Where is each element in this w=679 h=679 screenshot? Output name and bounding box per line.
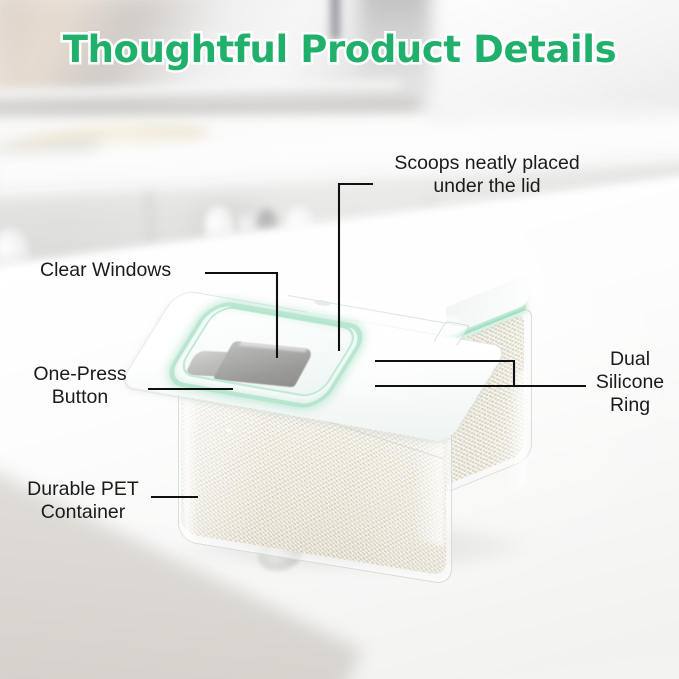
callout-label-dual-silicone: Dual Silicone Ring (586, 348, 674, 416)
callout-leader-lines (0, 0, 679, 679)
leader-dual-silicone (375, 361, 514, 386)
leader-scoops (339, 184, 373, 351)
leader-clear-windows (205, 273, 277, 358)
callout-label-durable-pet: Durable PET Container (10, 478, 156, 524)
callout-label-one-press: One-Press Button (18, 363, 142, 409)
infographic-canvas: Thoughtful Product Details Scoops neatly… (0, 0, 679, 679)
callout-label-clear-windows: Clear Windows (40, 259, 171, 282)
page-title: Thoughtful Product Details (0, 28, 679, 71)
callout-label-scoops: Scoops neatly placed under the lid (372, 152, 602, 198)
